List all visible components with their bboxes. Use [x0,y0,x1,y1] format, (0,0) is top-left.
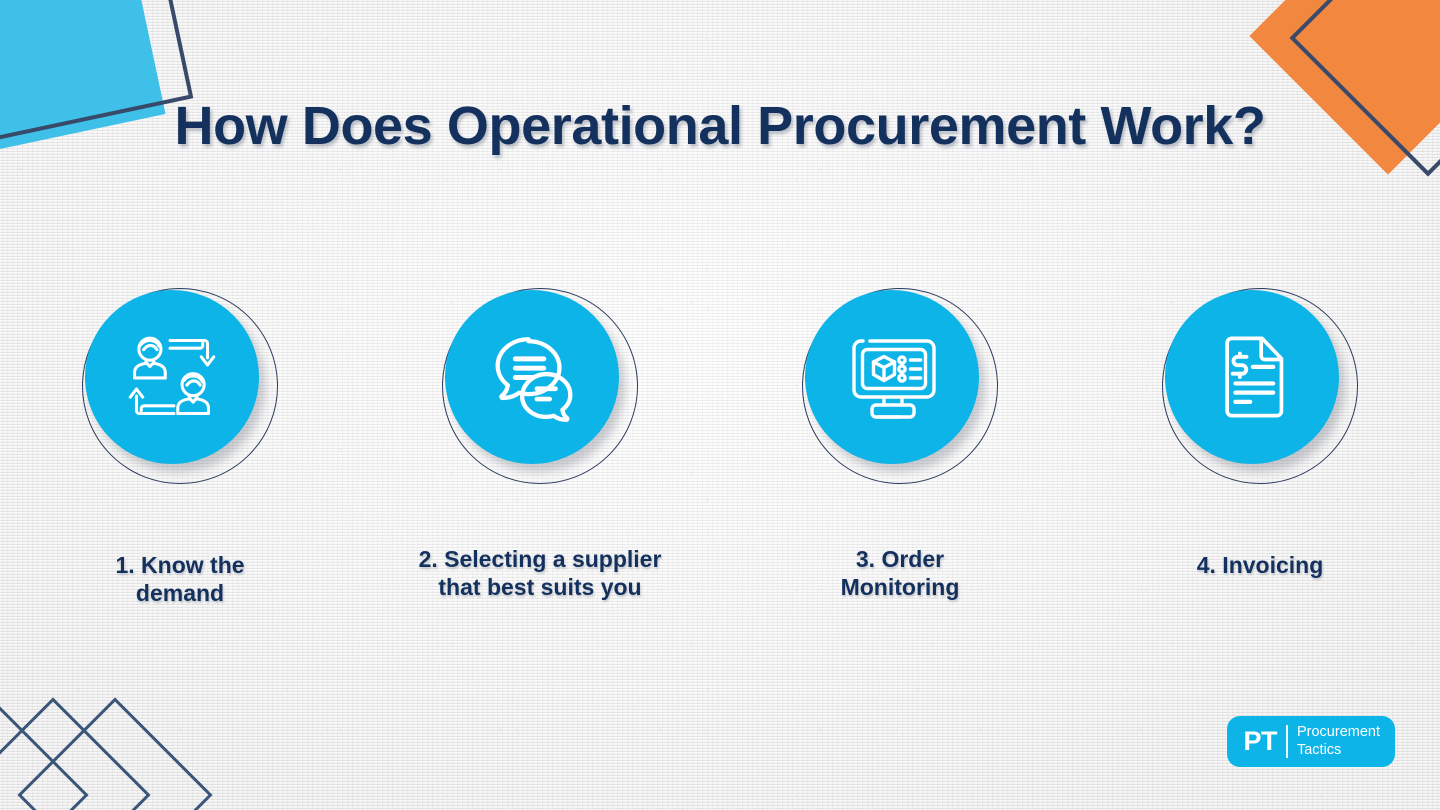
step-1-badge [82,288,278,484]
step-1-disc [85,290,259,464]
step-2-label: 2. Selecting a supplier that best suits … [419,546,662,601]
monitor-checklist-icon [842,327,942,427]
step-4-badge [1162,288,1358,484]
people-exchange-icon [124,329,220,425]
step-2-disc [445,290,619,464]
invoice-document-icon [1206,331,1298,423]
step-2-selecting-a-supplier[interactable]: 2. Selecting a supplier that best suits … [360,288,720,601]
step-4-disc [1165,290,1339,464]
step-3-label: 3. Order Monitoring [841,546,960,601]
step-3-badge [802,288,998,484]
step-1-know-the-demand[interactable]: 1. Know the demand [0,288,360,607]
step-3-disc [805,290,979,464]
steps-row: 1. Know the demand [0,288,1440,607]
brand-logo[interactable]: PT Procurement Tactics [1227,716,1395,767]
speech-bubbles-icon [483,328,581,426]
step-2-badge [442,288,638,484]
brand-divider [1286,725,1288,758]
brand-name-procurement-tactics: Procurement Tactics [1297,724,1380,758]
step-1-label: 1. Know the demand [115,552,244,607]
step-3-order-monitoring[interactable]: 3. Order Monitoring [720,288,1080,601]
step-4-label: 4. Invoicing [1197,552,1324,580]
step-4-invoicing[interactable]: 4. Invoicing [1080,288,1440,580]
brand-mark-pt: PT [1243,728,1277,755]
page-title: How Does Operational Procurement Work? [0,92,1440,160]
